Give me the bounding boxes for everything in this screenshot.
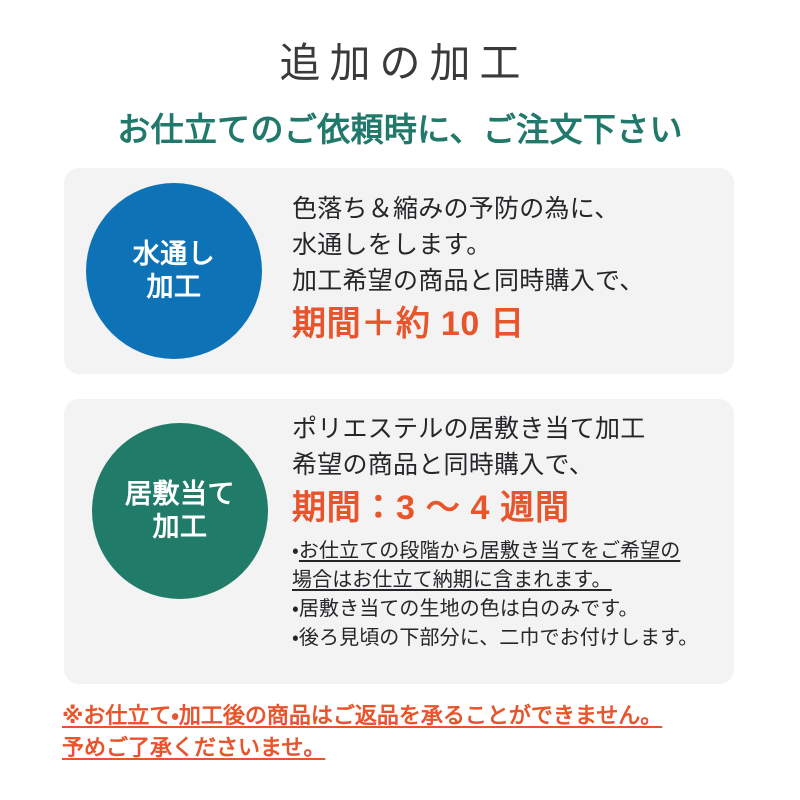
- note-bullet: ・: [292, 627, 299, 649]
- badge-label-line1: 水通し: [133, 238, 216, 271]
- badge-mizutoshi-circle: 水通し 加工: [86, 183, 262, 359]
- note-bullet: ・: [292, 598, 299, 620]
- note-item: ・お仕立ての段階から居敷き当てをご希望の: [292, 537, 720, 566]
- body-line: 色落ち＆縮みの予防の為に、: [292, 191, 720, 227]
- badge-label-line2: 加工: [146, 271, 201, 304]
- duration-highlight: 期間：3 ～ 4 週間: [292, 485, 720, 531]
- page-subtitle: お仕立てのご依頼時に、ご注文下さい: [0, 108, 800, 152]
- note-item: ・居敷き当ての生地の色は白のみです。: [292, 595, 720, 624]
- card-mizutoshi: 水通し 加工 色落ち＆縮みの予防の為に、 水通しをします。 加工希望の商品と同時…: [64, 168, 734, 374]
- footer-text: ※お仕立て・加工後の商品はご返品を承ることができません。: [62, 703, 662, 728]
- body-line: 水通しをします。: [292, 227, 720, 263]
- note-item: ・後ろ見頃の下部分に、二巾でお付けします。: [292, 624, 720, 653]
- duration-highlight: 期間＋約 10 日: [292, 301, 720, 347]
- body-line: 希望の商品と同時購入で、: [292, 447, 720, 483]
- poster-root: 追加の加工 お仕立てのご依頼時に、ご注文下さい 水通し 加工 色落ち＆縮みの予防…: [0, 0, 800, 800]
- badge-ishikiate-circle: 居敷当て 加工: [92, 423, 268, 599]
- note-text: 居敷き当ての生地の色は白のみです。: [299, 598, 639, 620]
- footer-line: 予めご了承くださいませ。: [62, 732, 762, 764]
- footer-line: ※お仕立て・加工後の商品はご返品を承ることができません。: [62, 700, 762, 732]
- note-bullet: ・: [292, 540, 299, 562]
- footer-disclaimer: ※お仕立て・加工後の商品はご返品を承ることができません。 予めご了承くださいませ…: [62, 700, 762, 764]
- badge-label-line1: 居敷当て: [125, 478, 235, 511]
- body-line: 加工希望の商品と同時購入で、: [292, 263, 720, 299]
- note-text: 場合はお仕立て納期に含まれます。: [292, 569, 612, 591]
- badge-label-line2: 加工: [152, 511, 207, 544]
- note-text: 後ろ見頃の下部分に、二巾でお付けします。: [299, 627, 698, 649]
- card-mizutoshi-body: 色落ち＆縮みの予防の為に、 水通しをします。 加工希望の商品と同時購入で、 期間…: [292, 191, 720, 347]
- body-line: ポリエステルの居敷き当て加工: [292, 411, 720, 447]
- note-item: 場合はお仕立て納期に含まれます。: [292, 566, 720, 595]
- card-ishikiate: 居敷当て 加工 ポリエステルの居敷き当て加工 希望の商品と同時購入で、 期間：3…: [64, 399, 734, 684]
- note-list: ・お仕立ての段階から居敷き当てをご希望の 場合はお仕立て納期に含まれます。 ・居…: [292, 537, 720, 653]
- note-text: お仕立ての段階から居敷き当てをご希望の: [299, 540, 681, 562]
- page-title: 追加の加工: [0, 38, 800, 88]
- card-ishikiate-body: ポリエステルの居敷き当て加工 希望の商品と同時購入で、 期間：3 ～ 4 週間 …: [292, 411, 720, 653]
- footer-text: 予めご了承くださいませ。: [62, 735, 325, 760]
